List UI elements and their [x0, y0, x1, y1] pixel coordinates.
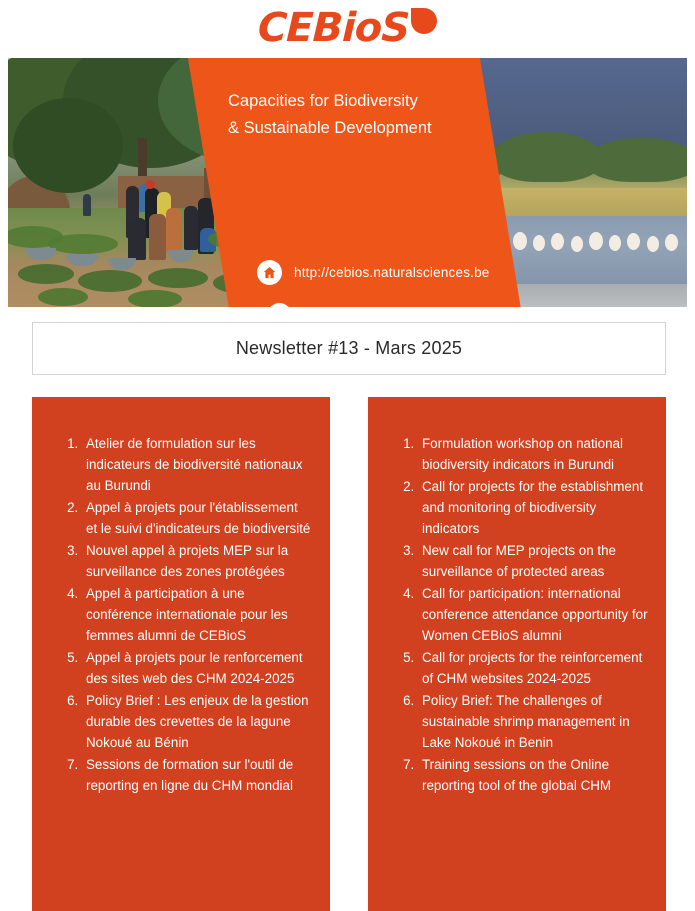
list-item[interactable]: Call for projects for the reinforcement … [418, 647, 648, 689]
contents-list-english: Formulation workshop on national biodive… [386, 433, 648, 796]
banner-tagline: Capacities for Biodiversity & Sustainabl… [228, 88, 548, 142]
contents-panel-french: Atelier de formulation sur les indicateu… [32, 397, 330, 911]
logo-wrap: CEBioS [258, 6, 437, 50]
social-link[interactable]: CEBioS dgd [267, 303, 380, 307]
tagline-line-1: Capacities for Biodiversity [228, 88, 548, 115]
list-item[interactable]: Training sessions on the Online reportin… [418, 754, 648, 796]
website-url: http://cebios.naturalsciences.be [294, 265, 490, 280]
website-link[interactable]: http://cebios.naturalsciences.be [257, 260, 490, 285]
list-item[interactable]: New call for MEP projects on the surveil… [418, 540, 648, 582]
contents-list-french: Atelier de formulation sur les indicateu… [50, 433, 312, 796]
list-item[interactable]: Sessions de formation sur l'outil de rep… [82, 754, 312, 796]
list-item[interactable]: Call for projects for the establishment … [418, 476, 648, 539]
list-item[interactable]: Policy Brief : Les enjeux de la gestion … [82, 690, 312, 753]
play-icon [267, 303, 292, 307]
brand-logo: CEBioS [0, 0, 695, 56]
home-icon [257, 260, 282, 285]
tagline-line-2: & Sustainable Development [228, 115, 548, 142]
list-item[interactable]: Policy Brief: The challenges of sustaina… [418, 690, 648, 753]
newsletter-page: CEBioS [0, 0, 695, 911]
contents-panel-english: Formulation workshop on national biodive… [368, 397, 666, 911]
newsletter-title-box: Newsletter #13 - Mars 2025 [32, 322, 666, 375]
logo-wordmark: CEBioS [257, 6, 410, 50]
list-item[interactable]: Appel à projets pour l'établissement et … [82, 497, 312, 539]
list-item[interactable]: Atelier de formulation sur les indicateu… [82, 433, 312, 496]
list-item[interactable]: Nouvel appel à projets MEP sur la survei… [82, 540, 312, 582]
banner-content: Capacities for Biodiversity & Sustainabl… [8, 58, 687, 307]
leaf-drop-icon [411, 8, 437, 34]
list-item[interactable]: Formulation workshop on national biodive… [418, 433, 648, 475]
list-item[interactable]: Call for participation: international co… [418, 583, 648, 646]
hero-banner: Capacities for Biodiversity & Sustainabl… [8, 58, 687, 307]
newsletter-title: Newsletter #13 - Mars 2025 [236, 338, 462, 359]
list-item[interactable]: Appel à projets pour le renforcement des… [82, 647, 312, 689]
list-item[interactable]: Appel à participation à une conférence i… [82, 583, 312, 646]
